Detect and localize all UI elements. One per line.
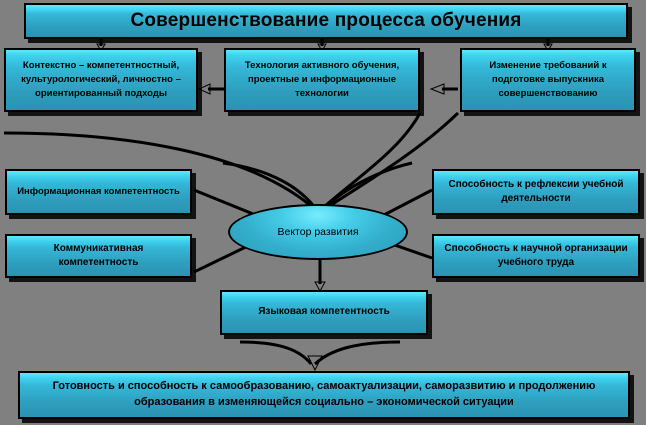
requirements-box: Изменение требований к подготовке выпуск…: [460, 48, 636, 112]
title-box: Совершенствование процесса обучения: [24, 3, 628, 39]
technology-box: Технология активного обучения, проектные…: [224, 48, 420, 112]
reflexion-ability-label: Способность к рефлексии учебной деятельн…: [440, 178, 632, 207]
arrow-to-conclusion: [308, 356, 322, 370]
information-competency-label: Информационная компетентность: [13, 185, 184, 199]
diagram-canvas: Совершенствование процесса обучения Конт…: [0, 0, 646, 425]
language-competency-box: Языковая компетентность: [220, 290, 428, 335]
curve-lang-comp-to-conclusion-left: [240, 342, 311, 364]
arrow-vector-to-lang-comp: [315, 260, 325, 291]
vector-of-development-ellipse: Вектор развития: [228, 204, 408, 260]
conclusion-box: Готовность и способность к самообразован…: [18, 371, 630, 419]
requirements-label: Изменение требований к подготовке выпуск…: [468, 59, 628, 100]
curve-technology-right-to-vector: [318, 113, 420, 212]
title-text: Совершенствование процесса обучения: [32, 7, 620, 35]
information-competency-box: Информационная компетентность: [5, 169, 192, 215]
curve-lang-comp-to-conclusion-right: [315, 342, 400, 364]
conclusion-label: Готовность и способность к самообразован…: [26, 379, 622, 411]
line-info-comp-to-vector: [194, 190, 258, 216]
language-competency-label: Языковая компетентность: [228, 305, 420, 320]
reflexion-ability-box: Способность к рефлексии учебной деятельн…: [432, 169, 640, 215]
line-reflexion-to-vector: [382, 190, 432, 216]
line-comm-comp-to-vector: [194, 244, 252, 272]
communicative-competency-box: Коммуникативная компетентность: [5, 234, 192, 278]
approaches-box: Контекстно – компетентностный, культурол…: [4, 48, 198, 112]
scientific-organization-label: Способность к научной организации учебно…: [440, 242, 632, 271]
vector-of-development-label: Вектор развития: [277, 226, 358, 238]
scientific-organization-box: Способность к научной организации учебно…: [432, 234, 640, 278]
arrow-technology-to-approaches: [199, 84, 224, 94]
communicative-competency-label: Коммуникативная компетентность: [13, 242, 184, 271]
arrow-requirements-to-technology: [431, 84, 458, 94]
approaches-label: Контекстно – компетентностный, культурол…: [12, 59, 190, 100]
technology-label: Технология активного обучения, проектные…: [232, 59, 412, 100]
